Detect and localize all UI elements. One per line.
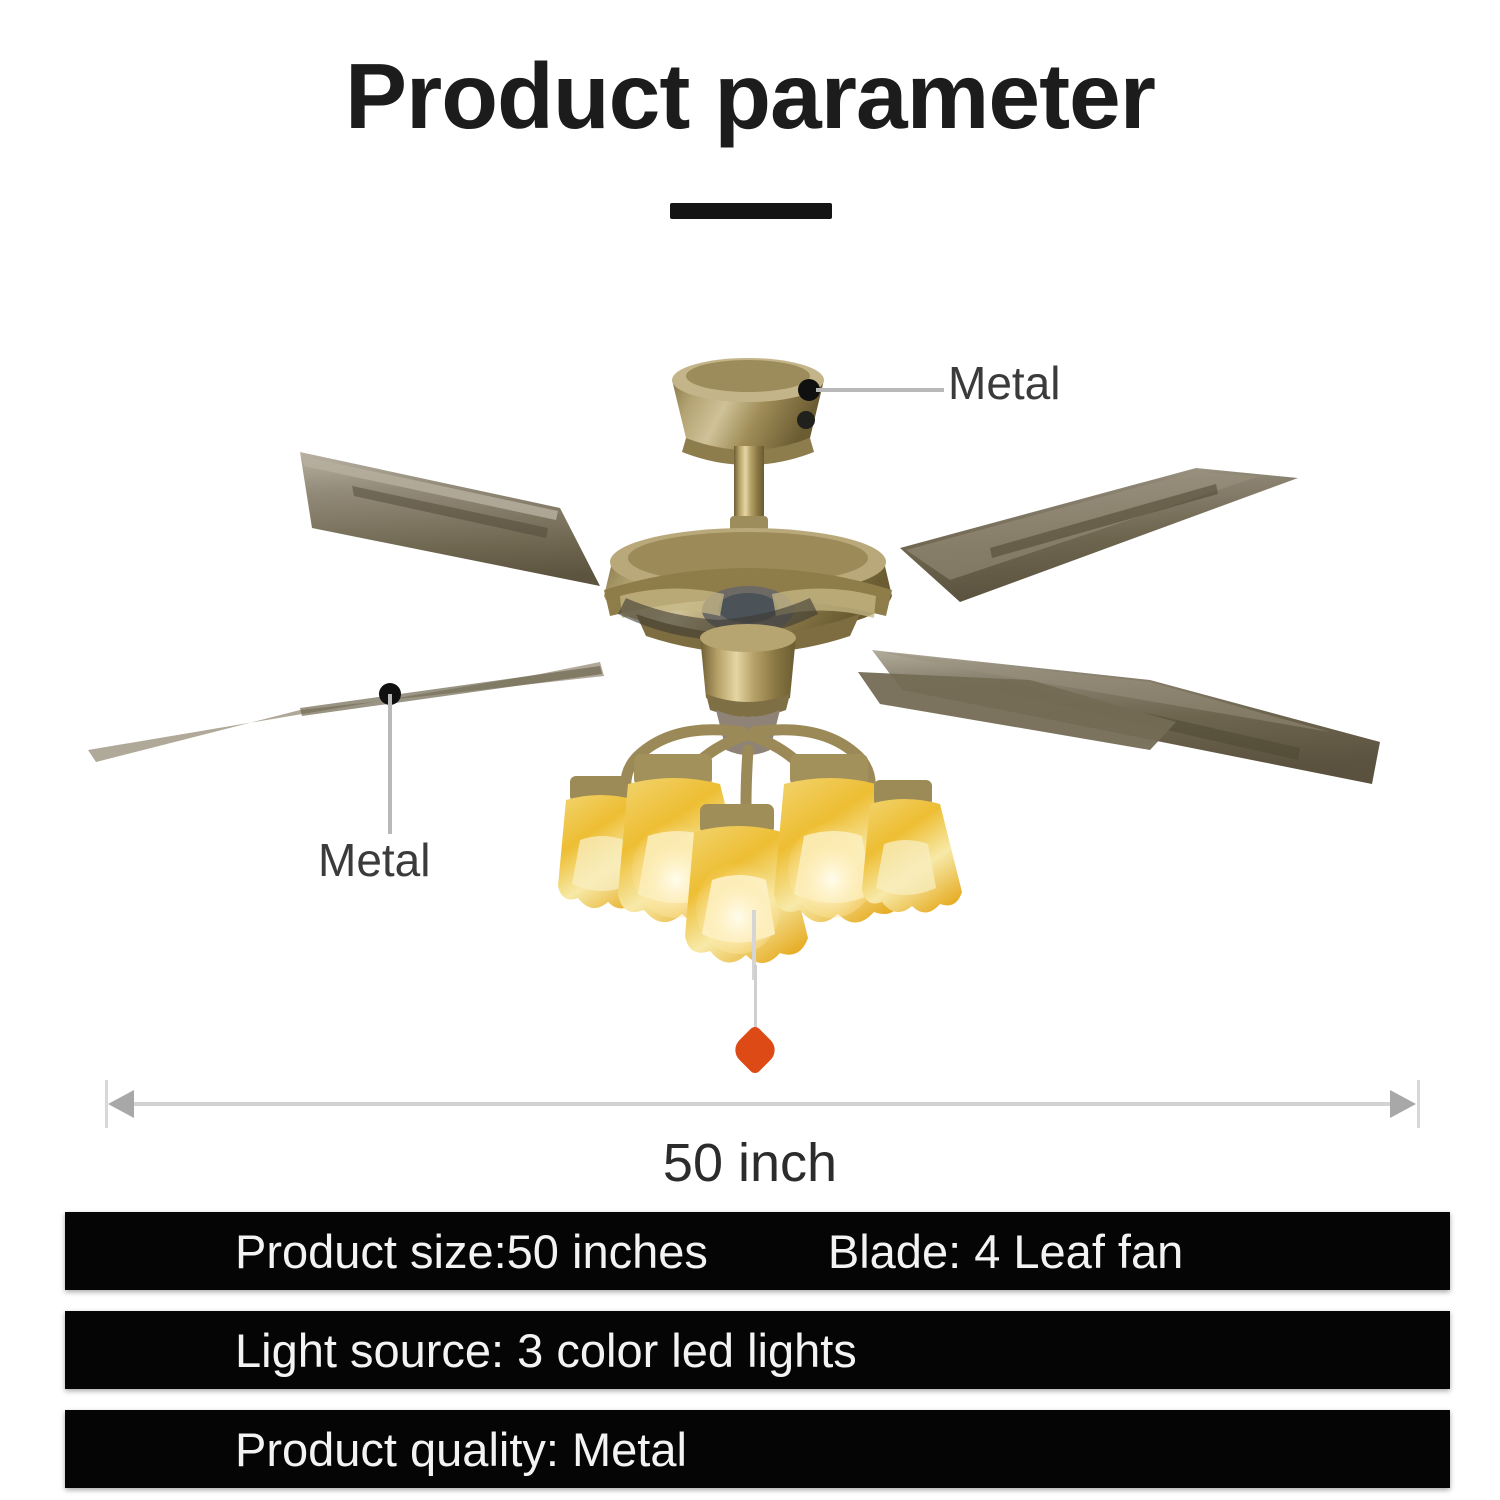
- shade-5: [862, 780, 962, 913]
- callout-leader-line-canopy: [816, 388, 944, 392]
- dimension-arrow-left-icon: [108, 1090, 134, 1118]
- light-shades: [558, 754, 962, 963]
- spec-text-quality: Product quality: Metal: [235, 1422, 687, 1477]
- spec-text-light-source: Light source: 3 color led lights: [235, 1323, 857, 1378]
- title-underline-rule: [670, 203, 832, 219]
- dimension-tick-right: [1417, 1080, 1420, 1128]
- spec-bar: Product quality: Metal: [65, 1410, 1450, 1488]
- spec-text-blade: Blade: 4 Leaf fan: [828, 1224, 1183, 1279]
- ceiling-fan-illustration: [0, 280, 1500, 1070]
- spec-bar: Light source: 3 color led lights: [65, 1311, 1450, 1389]
- callout-label-blade: Metal: [318, 833, 430, 887]
- page-title: Product parameter: [0, 48, 1500, 146]
- product-image: [0, 280, 1500, 1070]
- dimension-line: [112, 1102, 1412, 1106]
- dimension-annotation: 50 inch: [0, 1080, 1500, 1200]
- spec-text-size: Product size:50 inches: [235, 1224, 708, 1279]
- blade-upper-right: [900, 468, 1298, 602]
- spec-bar: Product size:50 inches Blade: 4 Leaf fan: [65, 1212, 1450, 1290]
- downrod: [730, 446, 768, 532]
- callout-leader-line-blade: [388, 694, 392, 834]
- dimension-label: 50 inch: [0, 1132, 1500, 1194]
- dimension-arrow-right-icon: [1390, 1090, 1416, 1118]
- callout-label-canopy: Metal: [948, 356, 1060, 410]
